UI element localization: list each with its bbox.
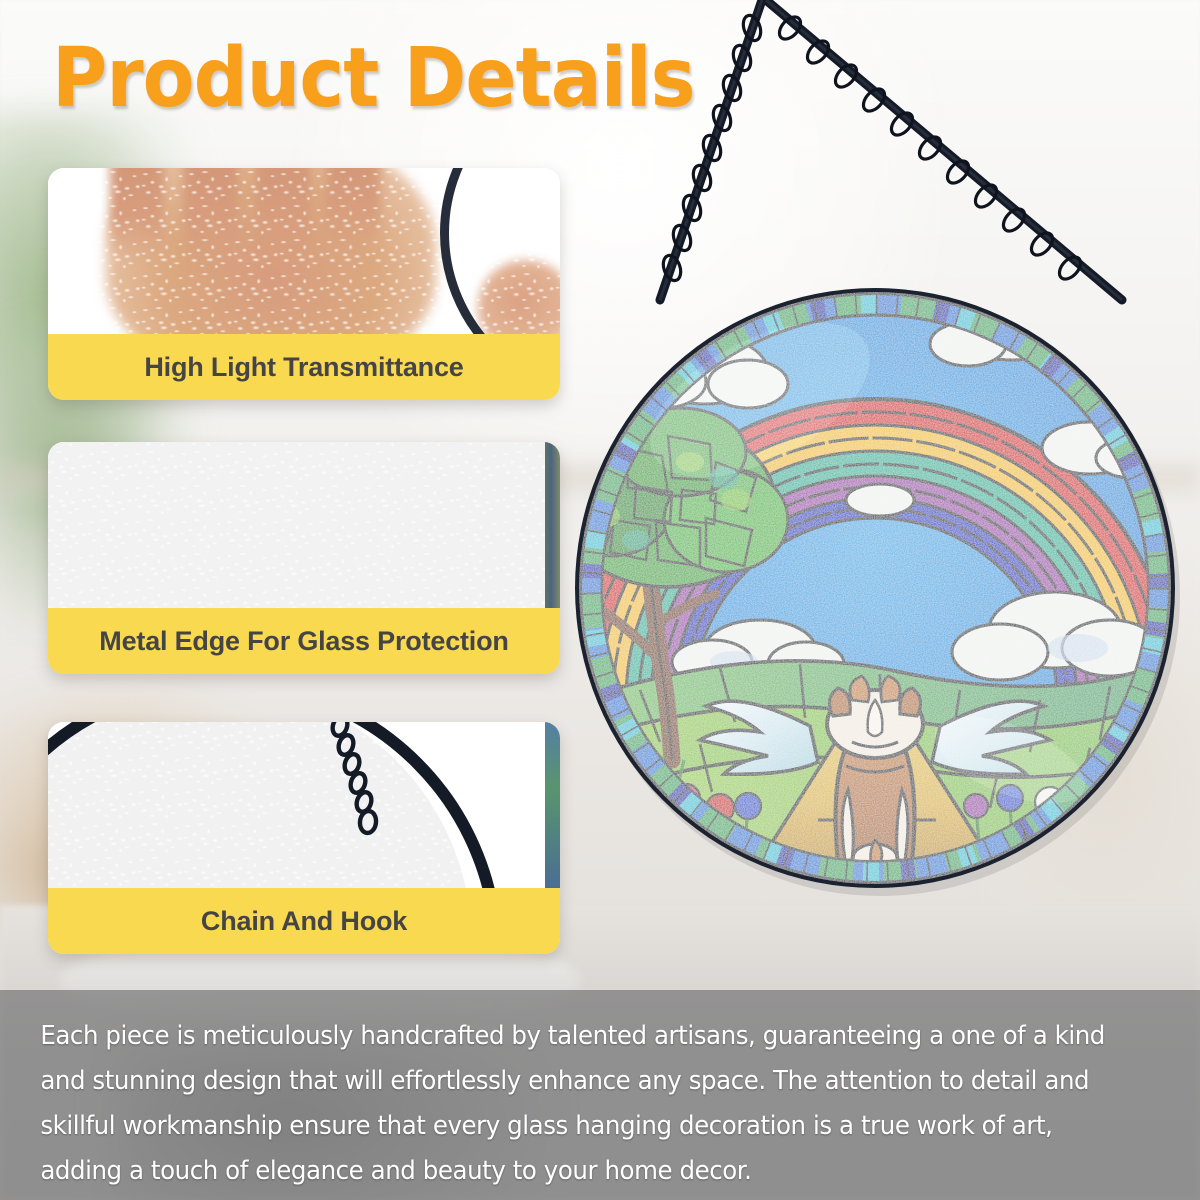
page-title: Product Details	[52, 38, 695, 120]
feature-card-metal-edge-for-glass-protection[interactable]: Metal Edge For Glass Protection	[48, 442, 560, 674]
feature-photo-metal-edge	[48, 442, 560, 608]
feature-card-high-light-transmittance[interactable]: High Light Transmittance	[48, 168, 560, 400]
feature-photo-chain-and-hook	[48, 722, 560, 888]
feature-card-chain-and-hook[interactable]: Chain And Hook	[48, 722, 560, 954]
description-text: Each piece is meticulously handcrafted b…	[0, 990, 1152, 1194]
chain-icon	[326, 722, 386, 838]
description-band: Each piece is meticulously handcrafted b…	[0, 990, 1200, 1200]
feature-label-chain-and-hook: Chain And Hook	[48, 888, 560, 954]
feature-photo-high-light-transmittance	[48, 168, 560, 334]
product-details-page: Product Details High Light Transmittance…	[0, 0, 1200, 1200]
feature-label-metal-edge-for-glass-protection: Metal Edge For Glass Protection	[48, 608, 560, 674]
feature-label-high-light-transmittance: High Light Transmittance	[48, 334, 560, 400]
